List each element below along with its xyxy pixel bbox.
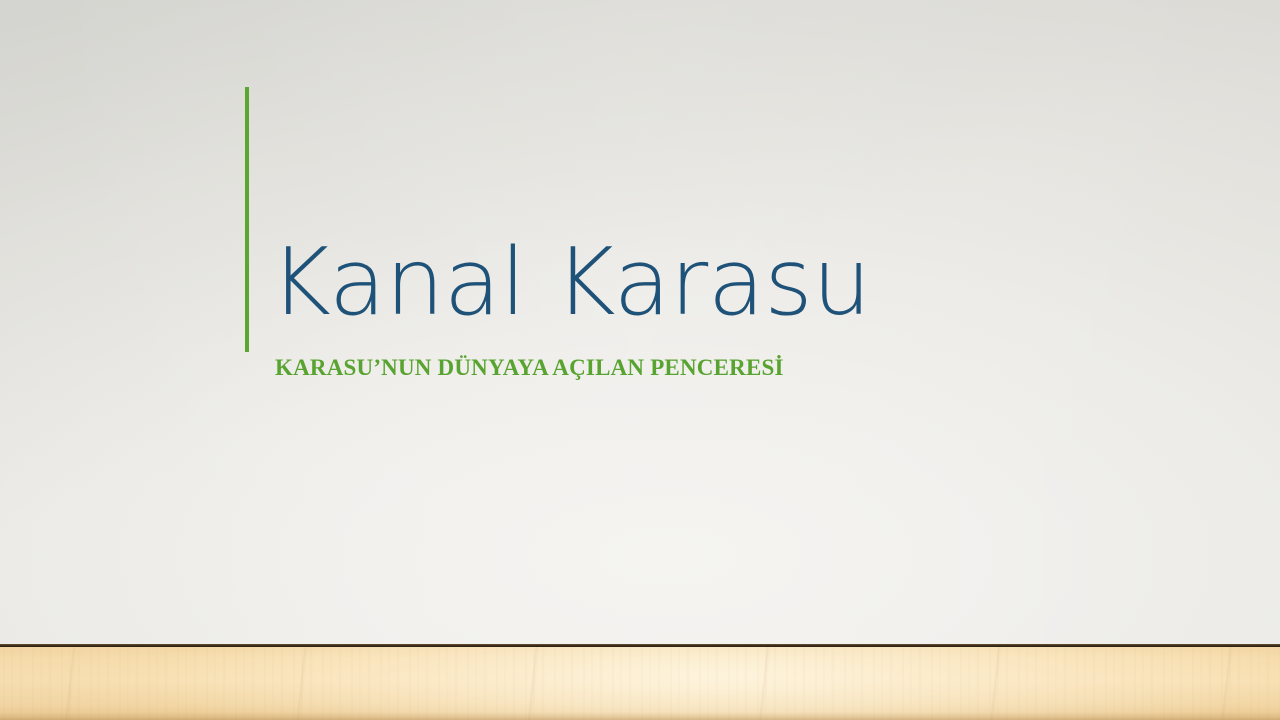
presentation-slide: Kanal Karasu KARASU’NUN DÜNYAYA AÇILAN P…: [0, 0, 1280, 720]
title-text-block: Kanal Karasu KARASU’NUN DÜNYAYA AÇILAN P…: [270, 236, 1170, 381]
floor-plank-seams: [0, 647, 1280, 720]
green-accent-bar: [245, 87, 249, 352]
slide-title[interactable]: Kanal Karasu: [270, 236, 1170, 329]
wood-floor: [0, 647, 1280, 720]
floor-bottom-shadow: [0, 712, 1280, 720]
slide-subtitle[interactable]: KARASU’NUN DÜNYAYA AÇILAN PENCERESİ: [275, 355, 1170, 381]
